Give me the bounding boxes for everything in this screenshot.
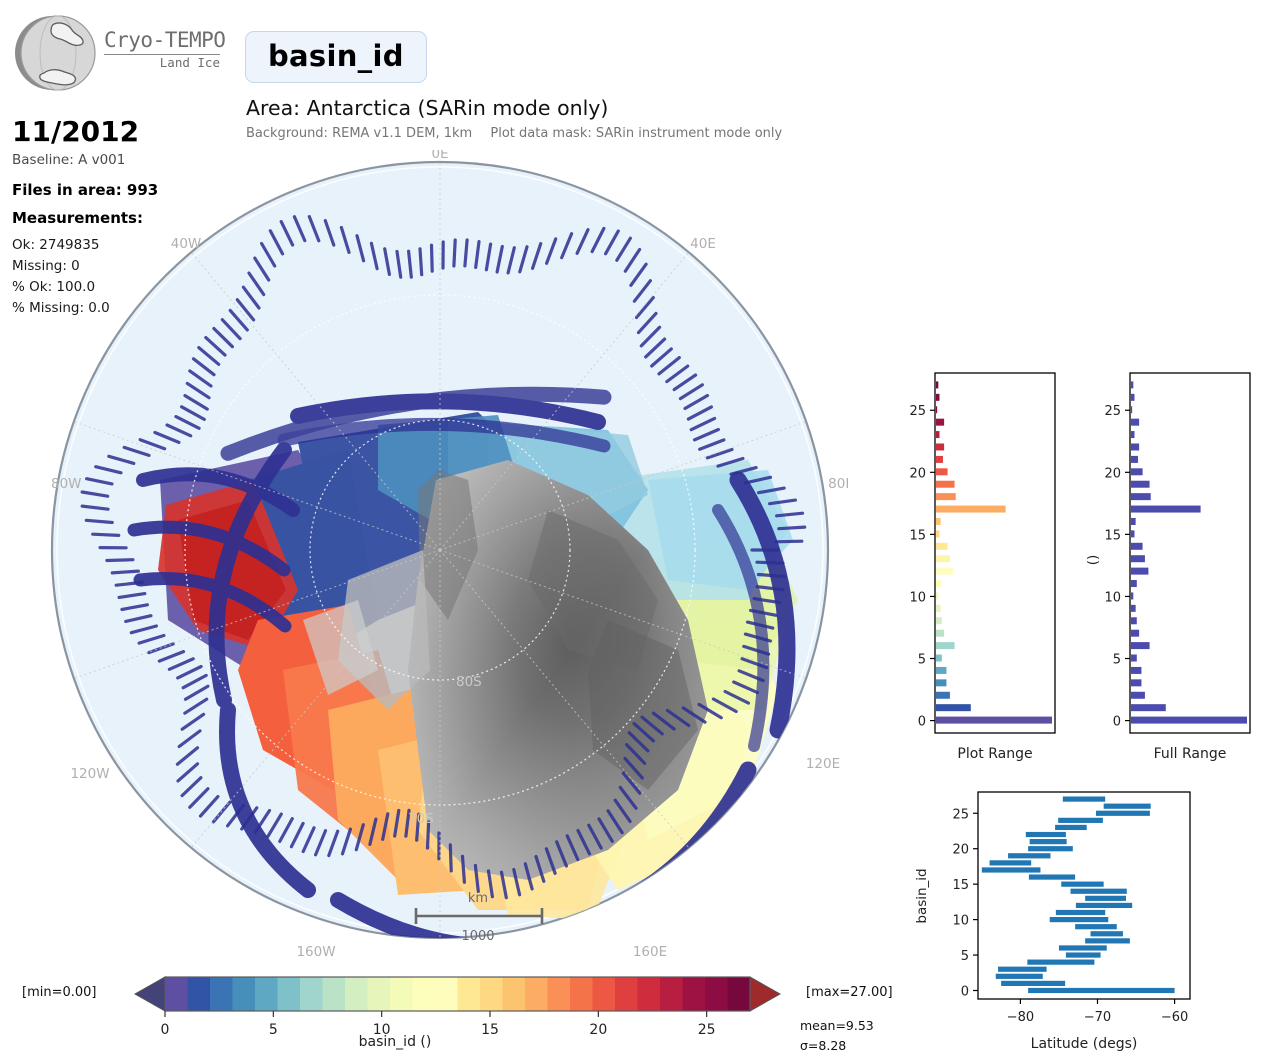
- logo-wordmark: Cryo-TEMPO Land Ice: [104, 30, 234, 70]
- lon-label-0e: 0E: [431, 150, 448, 162]
- svg-text:20: 20: [909, 466, 926, 481]
- svg-text:15: 15: [909, 528, 926, 543]
- svg-text:0: 0: [918, 715, 926, 730]
- logo-title: Cryo-TEMPO: [104, 30, 234, 51]
- latitude-range-xlabel: Latitude (degs): [1031, 1036, 1138, 1052]
- svg-text:−60: −60: [1161, 1010, 1188, 1025]
- plot-range-histogram[interactable]: 0510152025 Plot Range: [890, 360, 1070, 770]
- svg-text:0: 0: [1113, 715, 1121, 730]
- colorbar-over-arrow: [750, 977, 780, 1011]
- svg-text:−80: −80: [1007, 1010, 1034, 1025]
- latitude-range-yticks: 0510152025: [952, 807, 978, 999]
- colorbar-max-label: [max=27.00]: [806, 985, 893, 1000]
- cryo-tempo-logo: Cryo-TEMPO Land Ice: [12, 8, 232, 96]
- colorbar-mean-label: mean=9.53: [800, 1018, 874, 1033]
- lon-label-80e: 80E: [828, 476, 848, 492]
- latitude-range-xticks: −80−70−60: [1007, 999, 1189, 1025]
- globe-antarctica-icon: [12, 10, 98, 96]
- lon-label-40w: 40W: [171, 236, 202, 252]
- full-range-histogram[interactable]: 0510152025 () Full Range: [1085, 360, 1265, 770]
- plot-range-yticks: 0510152025: [909, 404, 935, 729]
- colorbar-sigma-label: σ=8.28: [800, 1038, 846, 1053]
- svg-text:10: 10: [1104, 590, 1121, 605]
- mask-note: Plot data mask: SARin instrument mode on…: [490, 126, 782, 141]
- lon-label-160w: 160W: [296, 944, 335, 960]
- svg-text:25: 25: [909, 404, 926, 419]
- date-label: 11/2012: [12, 115, 139, 148]
- svg-text:5: 5: [1113, 653, 1121, 668]
- map-subtitle-row: Background: REMA v1.1 DEM, 1km Plot data…: [246, 126, 796, 141]
- full-range-xlabel: Full Range: [1154, 746, 1227, 762]
- full-range-ylabel: (): [1085, 555, 1101, 566]
- svg-text:5: 5: [918, 653, 926, 668]
- scalebar-units: km: [468, 891, 488, 906]
- logo-subtitle: Land Ice: [104, 57, 220, 70]
- svg-text:0: 0: [961, 984, 969, 999]
- lon-label-40e: 40E: [690, 236, 716, 252]
- area-title: Area: Antarctica (SARin mode only): [246, 96, 608, 120]
- svg-text:20: 20: [1104, 466, 1121, 481]
- latitude-range-plot[interactable]: 0510152025 −80−70−60 basin_id Latitude (…: [900, 780, 1272, 1060]
- antarctica-polar-map[interactable]: 80S 70S 0E 40E 80E 120E 160E 160W 120W 8…: [48, 150, 848, 960]
- svg-text:5: 5: [961, 949, 969, 964]
- lon-label-120w: 120W: [70, 766, 109, 782]
- scalebar-value: 1000: [461, 929, 494, 944]
- latitude-range-ylabel: basin_id: [914, 868, 930, 923]
- svg-text:25: 25: [952, 807, 969, 822]
- plot-range-xlabel: Plot Range: [957, 746, 1032, 762]
- lon-label-80w: 80W: [51, 476, 82, 492]
- svg-text:10: 10: [909, 590, 926, 605]
- parameter-title-badge: basin_id: [245, 31, 427, 83]
- lat-label-70s: 70S: [408, 811, 434, 827]
- lon-label-160e: 160E: [633, 944, 667, 960]
- colorbar[interactable]: 0510152025: [110, 972, 800, 1042]
- svg-text:20: 20: [952, 843, 969, 858]
- colorbar-segments: [165, 977, 751, 1011]
- colorbar-min-label: [min=0.00]: [22, 985, 97, 1000]
- svg-text:10: 10: [952, 914, 969, 929]
- svg-text:15: 15: [952, 878, 969, 893]
- colorbar-axis-label: basin_id (): [0, 1034, 790, 1050]
- background-note: Background: REMA v1.1 DEM, 1km: [246, 126, 472, 141]
- full-range-yticks: 0510152025: [1104, 404, 1130, 729]
- svg-text:25: 25: [1104, 404, 1121, 419]
- svg-text:−70: −70: [1084, 1010, 1111, 1025]
- colorbar-under-arrow: [135, 977, 165, 1011]
- lon-label-120e: 120E: [806, 756, 840, 772]
- lat-label-80s: 80S: [456, 674, 482, 690]
- svg-text:15: 15: [1104, 528, 1121, 543]
